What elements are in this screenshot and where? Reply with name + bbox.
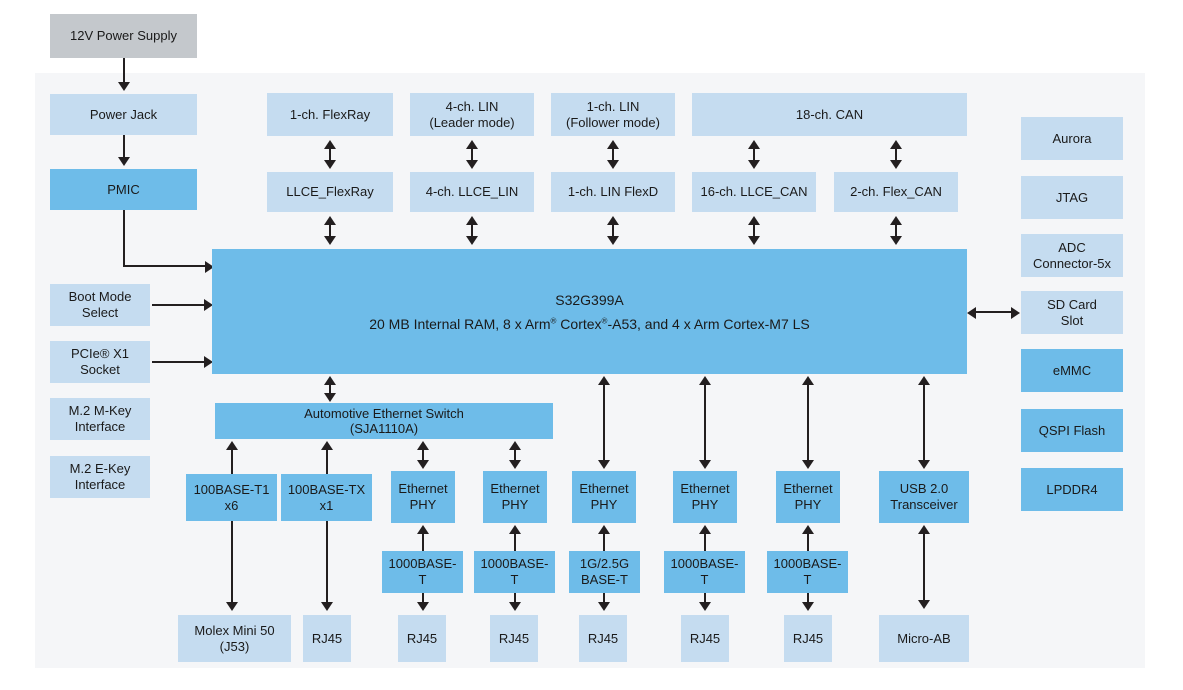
arrow-lin-flexd-soc-down [607, 236, 619, 245]
block-ethernet-phy-2: Ethernet PHY [483, 471, 547, 523]
connector-media3-phy3 [603, 533, 605, 551]
arrow-media1-rj45-down [417, 602, 429, 611]
block-qspi-flash: QSPI Flash [1021, 409, 1123, 452]
block-ethernet-phy-1: Ethernet PHY [391, 471, 455, 523]
arrow-soc-switch-down [324, 393, 336, 402]
connector-boot-to-soc [152, 304, 206, 306]
block-1ch-lin-follower: 1-ch. LIN (Follower mode) [551, 93, 675, 136]
connector-t1-molex [231, 521, 233, 605]
ethernet-switch-name: Automotive Ethernet Switch [304, 406, 464, 421]
connector-media4-phy4 [704, 533, 706, 551]
block-rj45-6: RJ45 [784, 615, 832, 662]
block-ethernet-phy-5: Ethernet PHY [776, 471, 840, 523]
arrow-soc-usb-down [918, 460, 930, 469]
connector-soc-usb [923, 384, 925, 460]
connector-pcie-to-soc [152, 361, 206, 363]
block-power-jack: Power Jack [50, 94, 197, 135]
block-1ch-flexray: 1-ch. FlexRay [267, 93, 393, 136]
block-4ch-lin-leader: 4-ch. LIN (Leader mode) [410, 93, 534, 136]
arrow-llce-lin-soc-down [466, 236, 478, 245]
block-1ch-lin-flexd: 1-ch. LIN FlexD [551, 172, 675, 212]
arrow-lin-follower-down [607, 160, 619, 169]
block-100base-t1: 100BASE-T1 x6 [186, 474, 277, 521]
block-usb-transceiver: USB 2.0 Transceiver [879, 471, 969, 523]
block-lpddr4: LPDDR4 [1021, 468, 1123, 511]
connector-media2-phy2 [514, 533, 516, 551]
connector-media1-phy1 [422, 533, 424, 551]
block-1000base-t-3: 1000BASE-T [664, 551, 745, 593]
block-100base-tx: 100BASE-TX x1 [281, 474, 372, 521]
block-micro-ab: Micro-AB [879, 615, 969, 662]
block-1000base-t-1: 1000BASE-T [382, 551, 463, 593]
ethernet-switch-part: (SJA1110A) [350, 421, 418, 436]
connector-tx-rj45 [326, 521, 328, 605]
block-sd-card-slot: SD Card Slot [1021, 291, 1123, 334]
arrow-soc-to-sd-right [1011, 307, 1020, 319]
block-rj45-1: RJ45 [303, 615, 351, 662]
block-soc-s32g399a: S32G399A 20 MB Internal RAM, 8 x Arm® Co… [212, 249, 967, 374]
block-llce-flexray: LLCE_FlexRay [267, 172, 393, 212]
block-ethernet-switch: Automotive Ethernet Switch (SJA1110A) [215, 403, 553, 439]
block-jtag: JTAG [1021, 176, 1123, 219]
connector-switch-tx [326, 449, 328, 475]
block-1000base-t-4: 1000BASE-T [767, 551, 848, 593]
arrow-can-flex-down [890, 160, 902, 169]
arrow-soc-to-sd-left [967, 307, 976, 319]
arrow-usb-microab-down [918, 600, 930, 609]
block-16ch-llce-can: 16-ch. LLCE_CAN [692, 172, 816, 212]
block-1000base-t-2: 1000BASE-T [474, 551, 555, 593]
arrow-media5-rj45-down [802, 602, 814, 611]
block-18ch-can: 18-ch. CAN [692, 93, 967, 136]
arrow-soc-phy5-down [802, 460, 814, 469]
block-m2-e-key-interface: M.2 E-Key Interface [50, 456, 150, 498]
arrow-media2-rj45-down [509, 602, 521, 611]
block-emmc: eMMC [1021, 349, 1123, 392]
arrow-lin-leader-down [466, 160, 478, 169]
arrow-switch-phy1-down [417, 460, 429, 469]
connector-pmic-right [123, 265, 207, 267]
arrow-flex-can-soc-down [890, 236, 902, 245]
block-pmic: PMIC [50, 169, 197, 210]
block-rj45-2: RJ45 [398, 615, 446, 662]
diagram-canvas: 12V Power Supply Power Jack PMIC Boot Mo… [0, 0, 1183, 690]
connector-usb-microab [923, 533, 925, 601]
connector-soc-sd [975, 311, 1013, 313]
connector-soc-phy5 [807, 384, 809, 460]
block-2ch-flex-can: 2-ch. Flex_CAN [834, 172, 958, 212]
block-adc-connector: ADC Connector-5x [1021, 234, 1123, 277]
arrow-supply-to-jack [118, 82, 130, 91]
connector-pmic-down [123, 210, 125, 266]
arrow-media3-rj45-down [598, 602, 610, 611]
block-molex-mini-50: Molex Mini 50 (J53) [178, 615, 291, 662]
block-rj45-5: RJ45 [681, 615, 729, 662]
arrow-tx-rj45-down [321, 602, 333, 611]
block-pcie-x1-socket: PCIe® X1 Socket [50, 341, 150, 383]
connector-switch-t1 [231, 449, 233, 475]
soc-description: 20 MB Internal RAM, 8 x Arm® Cortex®-A53… [369, 312, 810, 336]
arrow-llce-can-soc-down [748, 236, 760, 245]
block-ethernet-phy-3: Ethernet PHY [572, 471, 636, 523]
soc-name: S32G399A [555, 288, 624, 312]
arrow-media4-rj45-down [699, 602, 711, 611]
block-aurora: Aurora [1021, 117, 1123, 160]
arrow-llce-flexray-soc-down [324, 236, 336, 245]
arrow-t1-molex-down [226, 602, 238, 611]
block-rj45-3: RJ45 [490, 615, 538, 662]
block-m2-m-key-interface: M.2 M-Key Interface [50, 398, 150, 440]
arrow-soc-phy4-down [699, 460, 711, 469]
arrow-switch-phy2-down [509, 460, 521, 469]
block-boot-mode-select: Boot Mode Select [50, 284, 150, 326]
connector-soc-phy4 [704, 384, 706, 460]
block-1g-2-5g-base-t: 1G/2.5G BASE-T [569, 551, 640, 593]
arrow-flexray-down [324, 160, 336, 169]
arrow-can-llce-down [748, 160, 760, 169]
connector-supply-to-jack [123, 58, 125, 84]
arrow-jack-to-pmic [118, 157, 130, 166]
block-rj45-4: RJ45 [579, 615, 627, 662]
connector-media5-phy5 [807, 533, 809, 551]
block-ethernet-phy-4: Ethernet PHY [673, 471, 737, 523]
block-12v-power-supply: 12V Power Supply [50, 14, 197, 58]
connector-soc-phy3 [603, 384, 605, 460]
block-4ch-llce-lin: 4-ch. LLCE_LIN [410, 172, 534, 212]
arrow-soc-phy3-down [598, 460, 610, 469]
